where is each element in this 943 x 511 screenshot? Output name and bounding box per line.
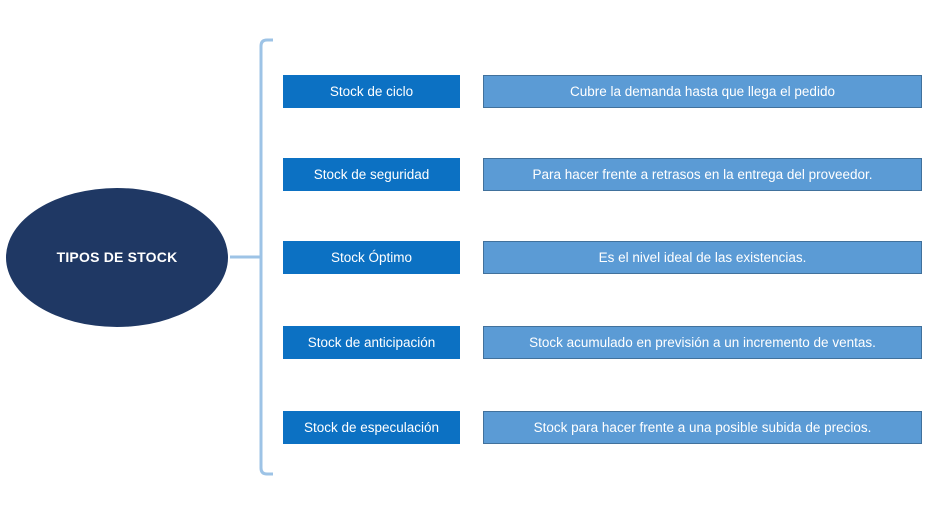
stock-type-title-label: Stock Óptimo (331, 251, 412, 265)
stock-type-description-box[interactable]: Es el nivel ideal de las existencias. (483, 241, 922, 274)
stock-type-description-box[interactable]: Stock acumulado en previsión a un increm… (483, 326, 922, 359)
stock-type-title-box[interactable]: Stock de especulación (283, 411, 460, 444)
stock-type-title-label: Stock de anticipación (308, 336, 436, 350)
stock-type-title-box[interactable]: Stock Óptimo (283, 241, 460, 274)
stock-type-description-label: Es el nivel ideal de las existencias. (599, 251, 807, 265)
stock-type-title-box[interactable]: Stock de ciclo (283, 75, 460, 108)
stock-type-title-box[interactable]: Stock de anticipación (283, 326, 460, 359)
bracket-connector-icon (225, 38, 273, 476)
diagram-row: Stock de ciclo Cubre la demanda hasta qu… (283, 75, 923, 108)
stock-type-description-label: Stock para hacer frente a una posible su… (534, 421, 872, 435)
root-node-ellipse[interactable]: TIPOS DE STOCK (6, 188, 228, 327)
stock-type-description-label: Cubre la demanda hasta que llega el pedi… (570, 85, 835, 99)
stock-type-description-box[interactable]: Para hacer frente a retrasos en la entre… (483, 158, 922, 191)
stock-types-diagram: TIPOS DE STOCK Stock de ciclo Cubre la d… (0, 0, 943, 511)
diagram-row: Stock Óptimo Es el nivel ideal de las ex… (283, 241, 923, 274)
stock-type-title-label: Stock de seguridad (314, 168, 430, 182)
stock-type-title-box[interactable]: Stock de seguridad (283, 158, 460, 191)
diagram-row: Stock de anticipación Stock acumulado en… (283, 326, 923, 359)
stock-type-description-label: Para hacer frente a retrasos en la entre… (533, 168, 873, 182)
stock-type-description-box[interactable]: Cubre la demanda hasta que llega el pedi… (483, 75, 922, 108)
diagram-row: Stock de especulación Stock para hacer f… (283, 411, 923, 444)
root-node-label: TIPOS DE STOCK (57, 249, 178, 266)
stock-type-description-label: Stock acumulado en previsión a un increm… (529, 336, 876, 350)
stock-type-description-box[interactable]: Stock para hacer frente a una posible su… (483, 411, 922, 444)
stock-type-title-label: Stock de especulación (304, 421, 439, 435)
diagram-row: Stock de seguridad Para hacer frente a r… (283, 158, 923, 191)
stock-type-title-label: Stock de ciclo (330, 85, 413, 99)
